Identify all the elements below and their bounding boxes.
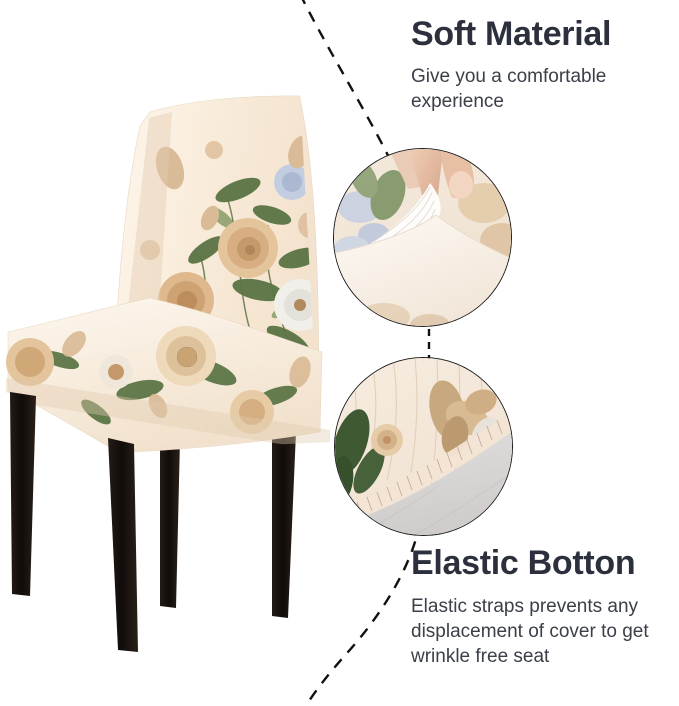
detail-photo-soft-material [333,148,512,327]
feature-block-soft-material: Soft Material Give you a comfortable exp… [411,16,673,114]
small-rose [371,424,403,456]
product-photo-chair [0,0,330,706]
detail-photo-elastic-bottom [334,357,513,536]
elastic-bottom-headline: Elastic Botton [411,545,677,582]
elastic-bottom-description: Elastic straps prevents any displacement… [411,594,673,669]
chair-illustration [0,0,330,706]
rose-primary [218,218,278,278]
infographic-canvas: Soft Material Give you a comfortable exp… [0,0,679,706]
feature-block-elastic-bottom: Elastic Botton Elastic straps prevents a… [411,545,677,669]
soft-material-headline: Soft Material [411,16,673,53]
soft-material-description: Give you a comfortable experience [411,64,661,114]
